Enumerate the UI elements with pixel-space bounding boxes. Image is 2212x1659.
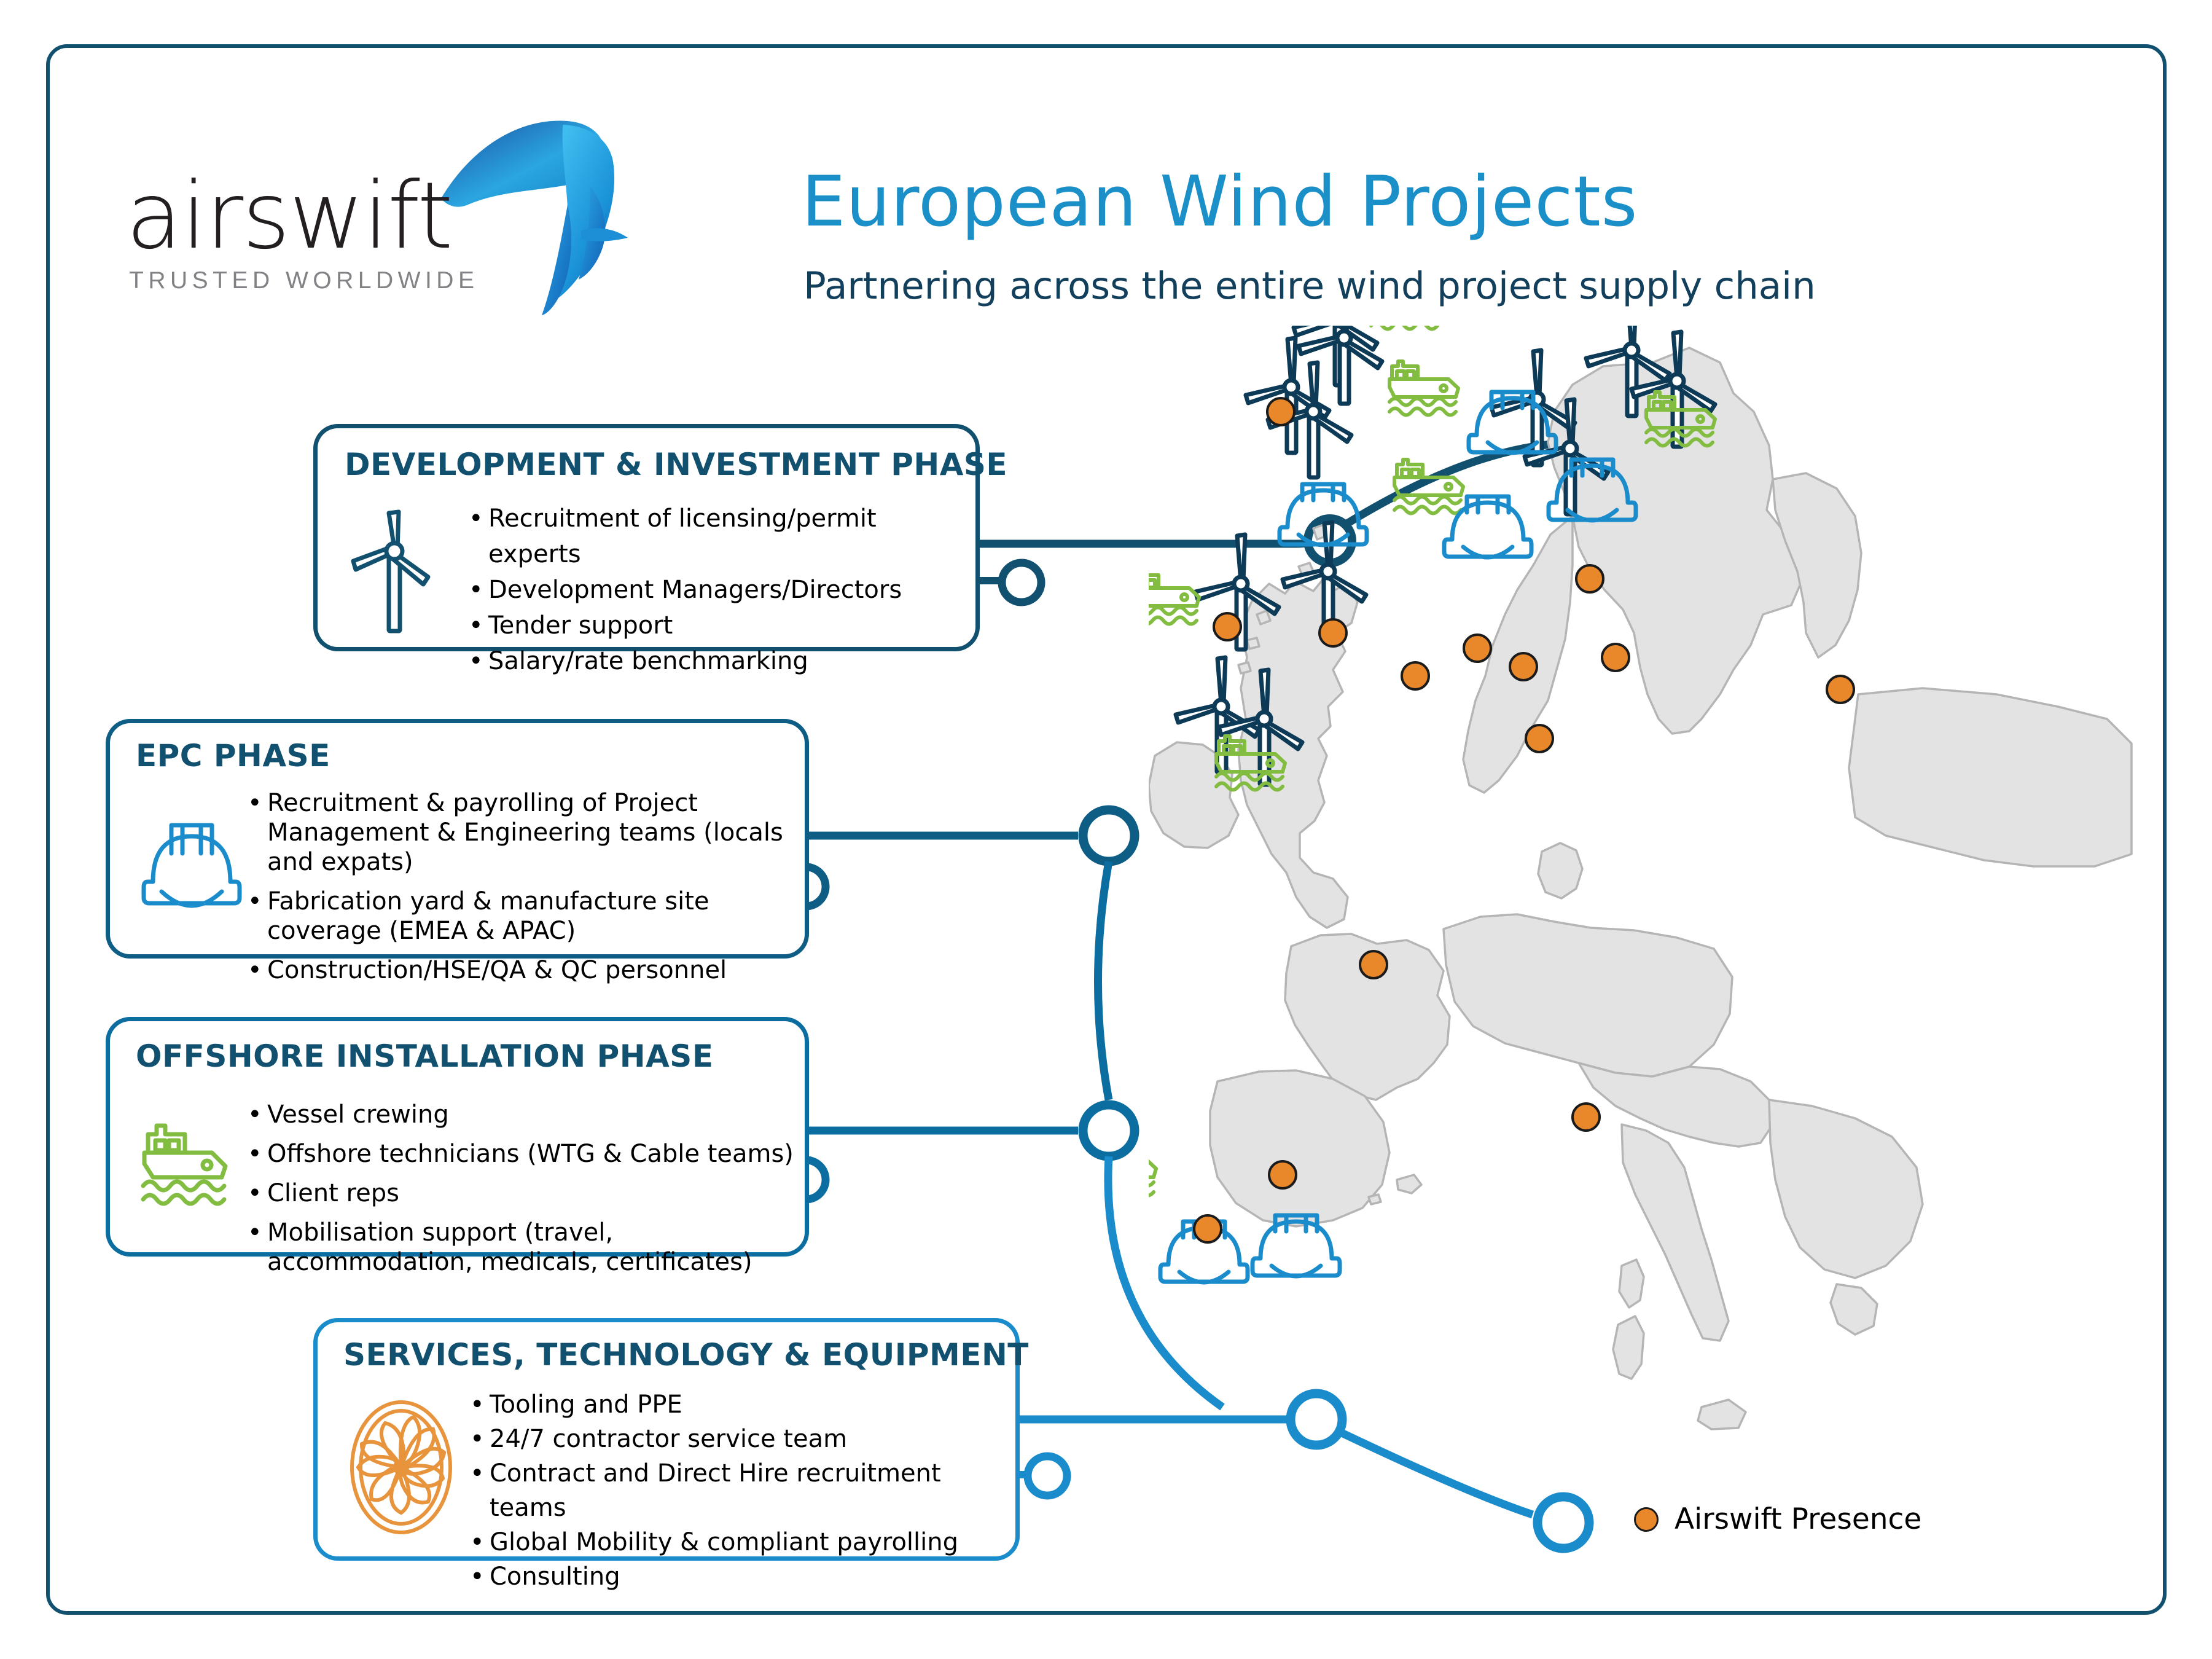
list-item: Vessel crewing bbox=[244, 1100, 805, 1129]
list-item: Construction/HSE/QA & QC personnel bbox=[244, 955, 805, 985]
card-title: EPC PHASE bbox=[136, 738, 330, 774]
list-item: Contract and Direct Hire recruitment tea… bbox=[466, 1456, 1015, 1525]
list-item: Recruitment of licensing/permit experts bbox=[465, 501, 975, 572]
list-item: Development Managers/Directors bbox=[465, 572, 975, 608]
card-title: OFFSHORE INSTALLATION PHASE bbox=[136, 1038, 713, 1074]
logo-wordmark: airswift bbox=[126, 163, 452, 270]
vessel-icon bbox=[139, 1118, 238, 1217]
list-item: Salary/rate benchmarking bbox=[465, 643, 975, 679]
card-title: DEVELOPMENT & INVESTMENT PHASE bbox=[345, 447, 1007, 482]
list-item: Consulting bbox=[466, 1559, 1015, 1594]
legend-label: Airswift Presence bbox=[1675, 1502, 1921, 1536]
list-item: Mobilisation support (travel, accommodat… bbox=[244, 1218, 805, 1277]
list-item: 24/7 contractor service team bbox=[466, 1422, 1015, 1456]
card-bullet-list: Recruitment of licensing/permit experts … bbox=[465, 501, 975, 679]
airswift-logo: airswift TRUSTED WORLDWIDE bbox=[123, 126, 614, 304]
card-bullet-list: Vessel crewing Offshore technicians (WTG… bbox=[244, 1100, 805, 1287]
turbine-rotor-icon bbox=[346, 1398, 456, 1537]
page-title: European Wind Projects bbox=[802, 161, 1638, 242]
page-subtitle: Partnering across the entire wind projec… bbox=[803, 264, 1816, 308]
map-legend: Airswift Presence bbox=[1634, 1502, 1921, 1536]
map-graphic bbox=[1149, 326, 2156, 1591]
card-services-technology-equipment[interactable]: SERVICES, TECHNOLOGY & EQUIPMENT Tooling… bbox=[313, 1318, 1020, 1561]
list-item: Global Mobility & compliant payrolling bbox=[466, 1525, 1015, 1559]
list-item: Client reps bbox=[244, 1179, 805, 1208]
list-item: Recruitment & payrolling of Project Mana… bbox=[244, 788, 805, 877]
card-development-investment-phase[interactable]: DEVELOPMENT & INVESTMENT PHASE Recruitme… bbox=[313, 424, 980, 651]
card-bullet-list: Tooling and PPE 24/7 contractor service … bbox=[466, 1387, 1015, 1594]
hard-hat-icon bbox=[139, 815, 244, 923]
card-offshore-installation-phase[interactable]: OFFSHORE INSTALLATION PHASE Vessel crewi… bbox=[106, 1017, 809, 1257]
europe-map bbox=[1149, 326, 2156, 1591]
list-item: Fabrication yard & manufacture site cove… bbox=[244, 887, 805, 946]
card-title: SERVICES, TECHNOLOGY & EQUIPMENT bbox=[343, 1337, 1029, 1373]
wind-turbine-icon bbox=[348, 508, 440, 634]
list-item: Tender support bbox=[465, 608, 975, 643]
logo-tagline: TRUSTED WORLDWIDE bbox=[129, 267, 479, 294]
list-item: Tooling and PPE bbox=[466, 1387, 1015, 1422]
card-epc-phase[interactable]: EPC PHASE Recruitment & payrolling of Pr… bbox=[106, 719, 809, 959]
list-item: Offshore technicians (WTG & Cable teams) bbox=[244, 1139, 805, 1169]
card-bullet-list: Recruitment & payrolling of Project Mana… bbox=[244, 788, 805, 995]
orange-dot-icon bbox=[1634, 1507, 1659, 1532]
